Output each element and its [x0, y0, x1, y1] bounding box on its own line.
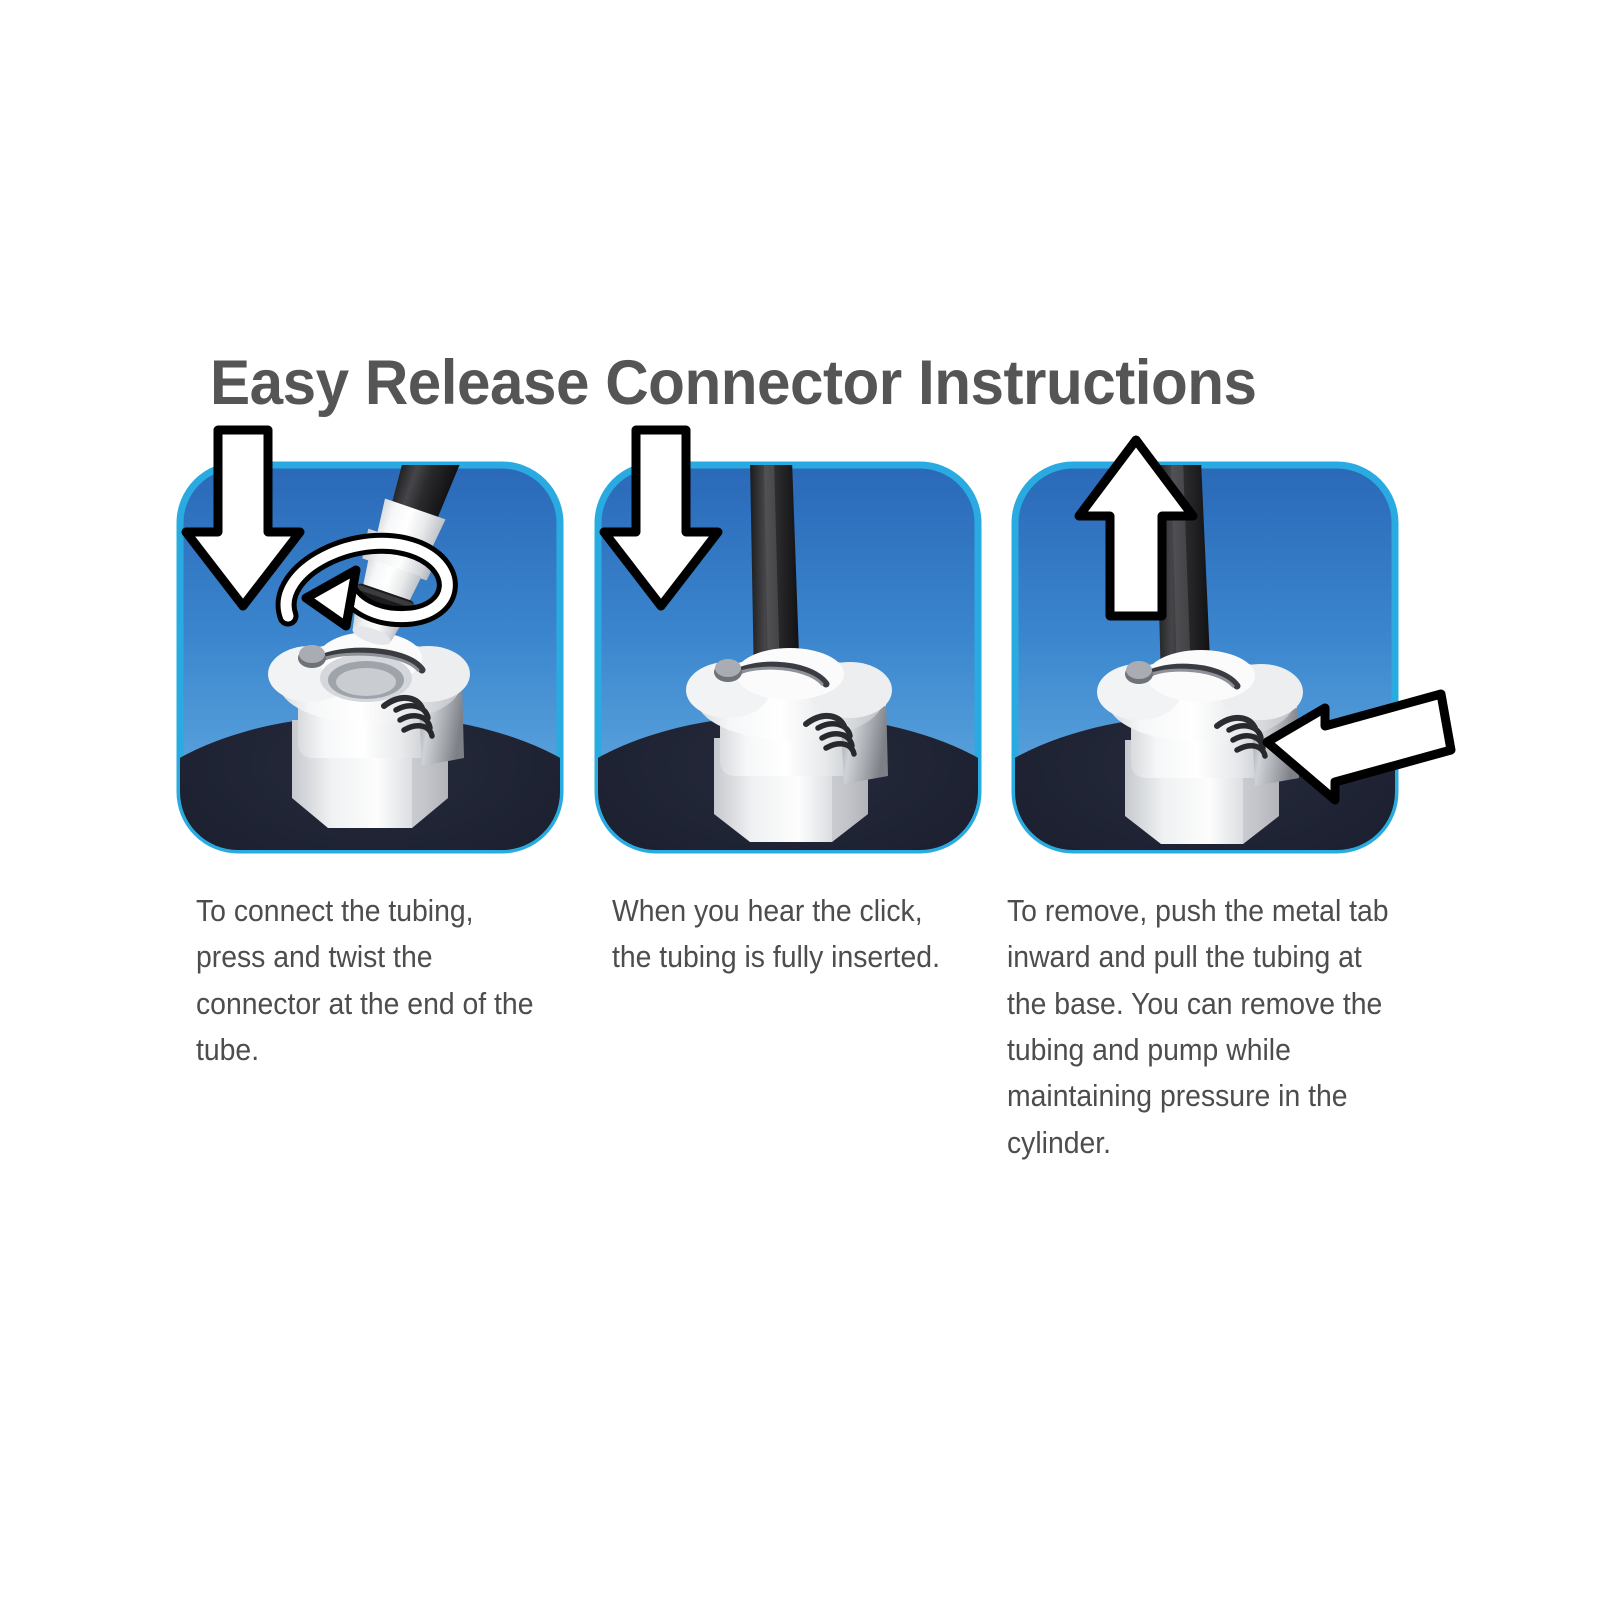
valve-body-2 [686, 648, 892, 842]
caption-step-2: When you hear the click, the tubing is f… [612, 888, 956, 981]
caption-step-3: To remove, push the metal tab inward and… [1007, 888, 1409, 1166]
step-panel-1 [160, 420, 580, 860]
page-title: Easy Release Connector Instructions [210, 352, 1337, 415]
step-panel-3 [995, 420, 1415, 860]
step-panel-2 [578, 420, 998, 860]
step-3-illustration [995, 420, 1415, 860]
valve-body-1 [268, 632, 470, 828]
caption-step-1: To connect the tubing, press and twist t… [196, 888, 540, 1073]
step-2-illustration [578, 420, 998, 860]
step-1-illustration [160, 420, 580, 860]
instruction-sheet: Easy Release Connector Instructions [0, 0, 1600, 1600]
